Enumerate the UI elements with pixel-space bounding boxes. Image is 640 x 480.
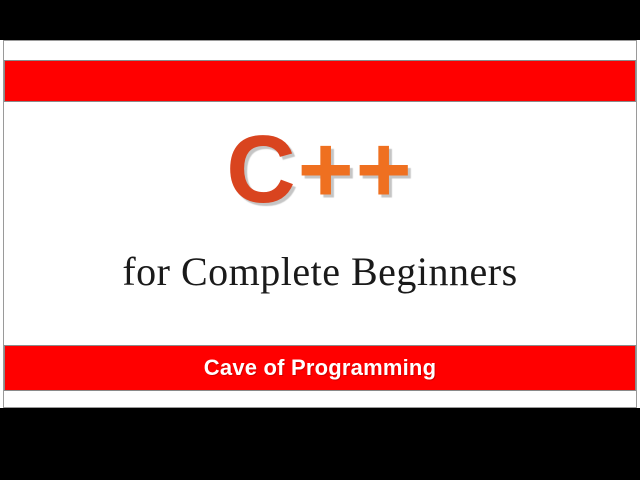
title-slide: C++ for Complete Beginners Cave of Progr… <box>0 0 640 480</box>
course-title-text: C++ <box>226 120 413 220</box>
title-letter-c: C <box>226 116 297 223</box>
course-subtitle-text: for Complete Beginners <box>122 249 517 294</box>
brand-name-label: Cave of Programming <box>204 355 436 381</box>
title-plus-plus: ++ <box>298 116 414 223</box>
top-red-banner <box>4 60 636 102</box>
bottom-red-banner: Cave of Programming <box>4 345 636 391</box>
course-subtitle: for Complete Beginners <box>0 248 640 295</box>
course-title: C++ <box>0 120 640 220</box>
